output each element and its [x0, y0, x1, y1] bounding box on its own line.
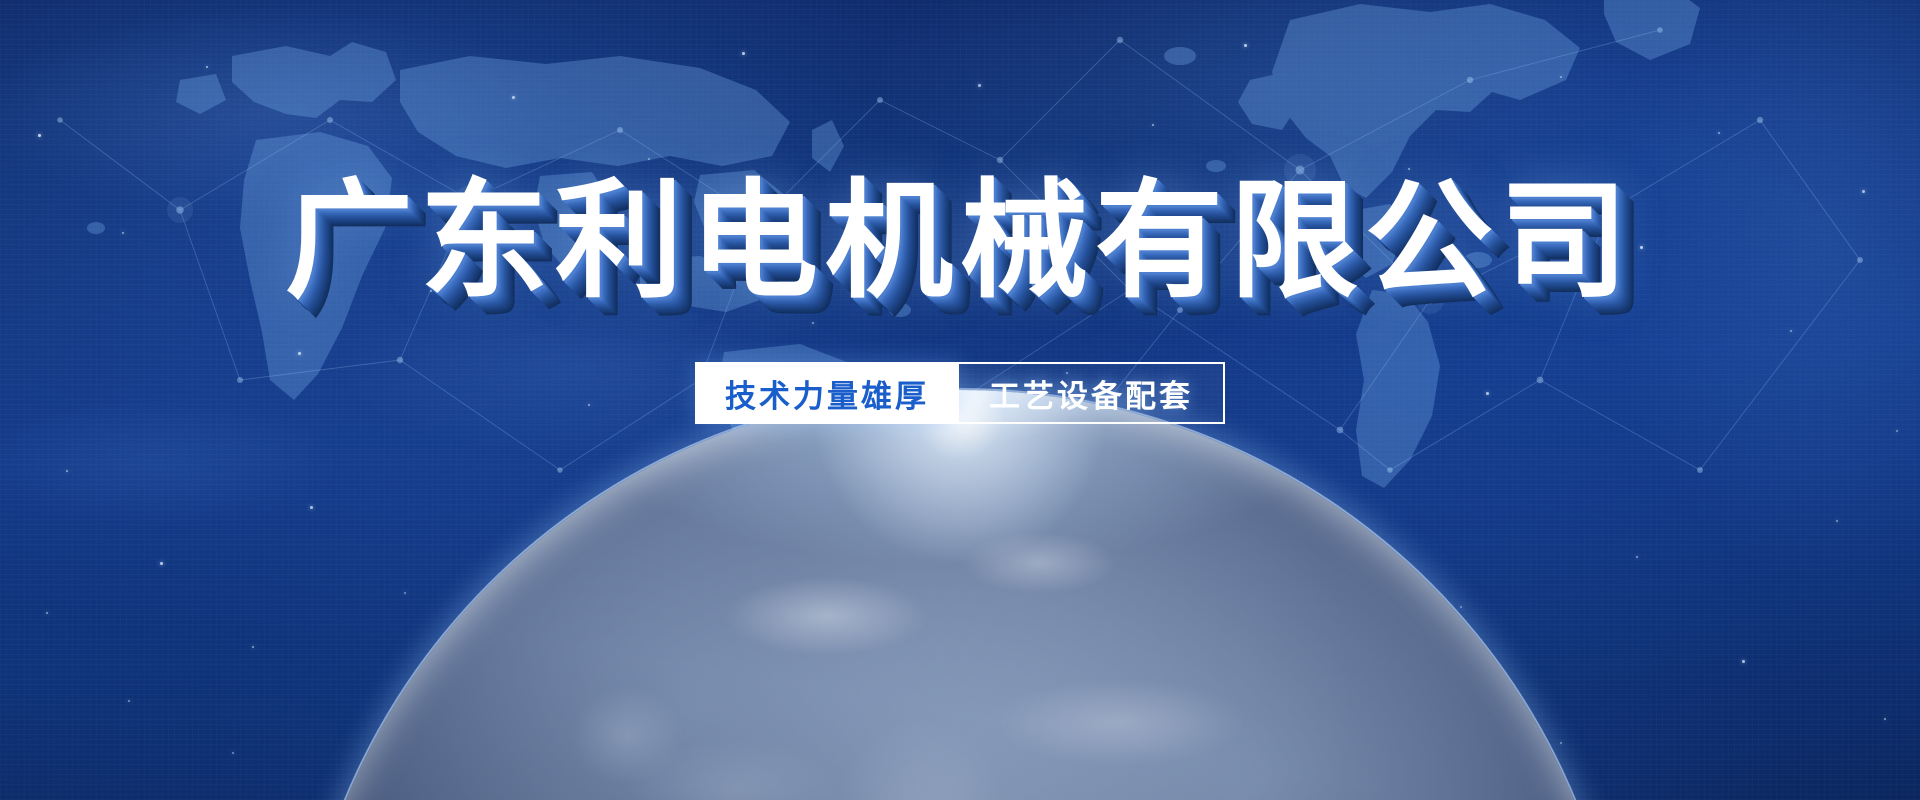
banner-content: 广东利电机械有限公司 技术力量雄厚 工艺设备配套: [0, 0, 1920, 800]
tagline-badge-technical-strength[interactable]: 技术力量雄厚: [695, 362, 959, 424]
tagline-badge-group: 技术力量雄厚 工艺设备配套: [695, 362, 1225, 424]
tagline-badge-process-equipment[interactable]: 工艺设备配套: [959, 362, 1225, 424]
hero-banner: 广东利电机械有限公司 技术力量雄厚 工艺设备配套: [0, 0, 1920, 800]
company-headline: 广东利电机械有限公司: [285, 178, 1635, 306]
